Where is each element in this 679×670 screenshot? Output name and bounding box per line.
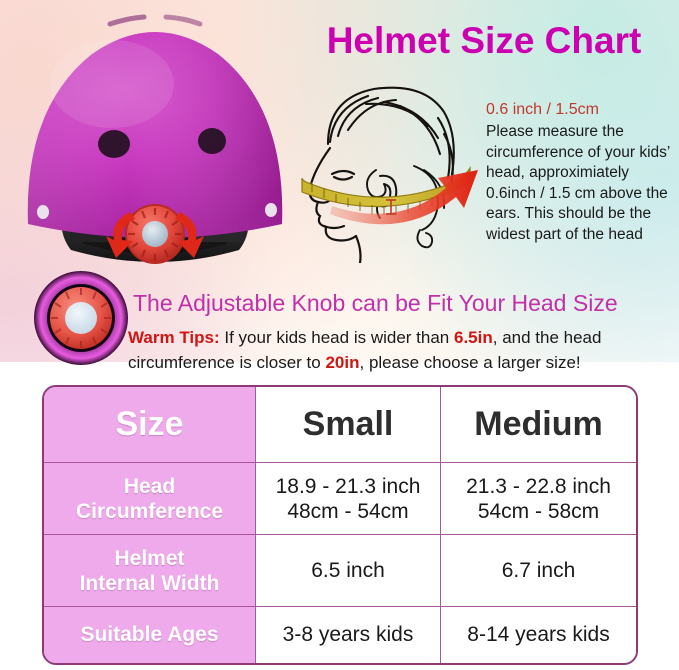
table-row: Head Circumference 18.9 - 21.3 inch 48cm… — [44, 463, 636, 535]
row-label-line2: Internal Width — [44, 571, 255, 596]
helmet-product-image — [14, 12, 296, 270]
cell-small-head-circumference: 18.9 - 21.3 inch 48cm - 54cm — [256, 463, 441, 535]
table-header-size: Size — [44, 387, 256, 463]
warm-tips-part3: , please choose a larger size! — [360, 353, 581, 372]
adjustable-knob-headline: The Adjustable Knob can be Fit Your Head… — [133, 290, 653, 317]
table-header-medium: Medium — [441, 387, 636, 463]
warm-tips-text: Warm Tips: If your kids head is wider th… — [128, 325, 668, 375]
table-header-small: Small — [256, 387, 441, 463]
row-label-line1: Helmet — [44, 546, 255, 571]
warm-tips-value-circumference: 20in — [325, 353, 359, 372]
warm-tips-label: Warm Tips: — [128, 328, 220, 347]
cell-line2: 48cm - 54cm — [256, 499, 440, 524]
cell-line1: 18.9 - 21.3 inch — [256, 474, 440, 499]
helmet-adjustment-knob — [125, 204, 185, 264]
table-header-row: Size Small Medium — [44, 387, 636, 463]
cell-medium-helmet-internal-width: 6.7 inch — [441, 535, 636, 607]
page-title: Helmet Size Chart — [298, 20, 670, 62]
cell-small-suitable-ages: 3-8 years kids — [256, 607, 441, 663]
size-chart-table: Size Small Medium Head Circumference 18.… — [42, 385, 638, 665]
hair-outline — [328, 88, 454, 188]
adjustable-knob-thumbnail — [33, 270, 129, 366]
measurement-highlight-label: 0.6 inch / 1.5cm — [486, 99, 676, 121]
head-measurement-diagram — [288, 78, 503, 263]
warm-tips-value-width: 6.5in — [454, 328, 493, 347]
row-label-line2: Circumference — [44, 499, 255, 524]
cell-small-helmet-internal-width: 6.5 inch — [256, 535, 441, 607]
table-row: Suitable Ages 3-8 years kids 8-14 years … — [44, 607, 636, 663]
row-label-head-circumference: Head Circumference — [44, 463, 256, 535]
warm-tips-part1: If your kids head is wider than — [224, 328, 449, 347]
cell-medium-suitable-ages: 8-14 years kids — [441, 607, 636, 663]
row-label-line1: Head — [44, 474, 255, 499]
row-label-helmet-internal-width: Helmet Internal Width — [44, 535, 256, 607]
cell-line1: 21.3 - 22.8 inch — [441, 474, 636, 499]
measurement-instructions: 0.6 inch / 1.5cm Please measure the circ… — [486, 99, 676, 245]
table-row: Helmet Internal Width 6.5 inch 6.7 inch — [44, 535, 636, 607]
cell-line2: 54cm - 58cm — [441, 499, 636, 524]
cell-medium-head-circumference: 21.3 - 22.8 inch 54cm - 58cm — [441, 463, 636, 535]
measurement-body-text: Please measure the circumference of your… — [486, 122, 676, 245]
row-label-suitable-ages: Suitable Ages — [44, 607, 256, 663]
